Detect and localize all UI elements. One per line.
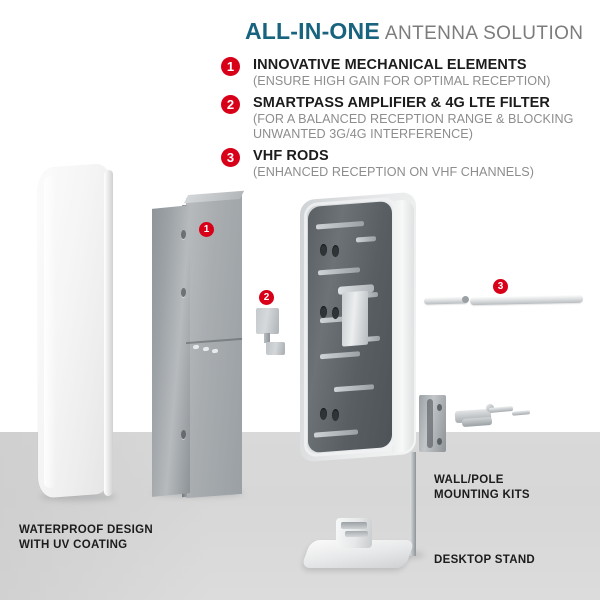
callout-badge-2: 2 — [259, 290, 274, 305]
feature-item-2: 2 SMARTPASS AMPLIFIER & 4G LTE FILTER (F… — [221, 94, 593, 142]
feature-list: 1 INNOVATIVE MECHANICAL ELEMENTS (ENSURE… — [221, 56, 593, 185]
infographic-canvas: ALL-IN-ONEANTENNA SOLUTION 1 INNOVATIVE … — [0, 0, 600, 600]
desktop-stand-slot — [341, 522, 367, 529]
title-sub: ANTENNA SOLUTION — [385, 23, 584, 44]
caption-desktop-stand: DESKTOP STAND — [434, 553, 535, 568]
caption-wall-pole-mounting-kits: WALL/POLE MOUNTING KITS — [434, 473, 530, 502]
wall-mount-hole — [437, 438, 442, 445]
feature-badge-2: 2 — [221, 95, 240, 114]
feature-description-3: (ENHANCED RECEPTION ON VHF CHANNELS) — [253, 165, 593, 180]
feature-title-3: VHF RODS — [253, 147, 593, 165]
antenna-housing-lip — [304, 197, 396, 458]
callout-badge-1: 1 — [199, 222, 214, 237]
vhf-rod-connector — [462, 296, 469, 303]
feature-title-2: SMARTPASS AMPLIFIER & 4G LTE FILTER — [253, 94, 593, 112]
feature-title-1: INNOVATIVE MECHANICAL ELEMENTS — [253, 56, 593, 74]
reflector-front-fin — [152, 205, 190, 497]
vhf-rod-long — [470, 295, 583, 305]
pole-clamp-secondary — [462, 417, 492, 427]
feature-item-3: 3 VHF RODS (ENHANCED RECEPTION ON VHF CH… — [221, 147, 593, 180]
feature-description-2: (FOR A BALANCED RECEPTION RANGE & BLOCKI… — [253, 112, 593, 142]
smartpass-filter-chip — [266, 342, 285, 355]
wall-mount-hole — [437, 404, 442, 411]
title-main: ALL-IN-ONE — [245, 18, 380, 44]
feature-badge-1: 1 — [221, 57, 240, 76]
mounting-mast — [410, 452, 416, 556]
waterproof-cover-edge — [104, 170, 113, 497]
feature-description-1: (ENSURE HIGH GAIN FOR OPTIMAL RECEPTION) — [253, 74, 593, 89]
feature-badge-3: 3 — [221, 148, 240, 167]
page-title: ALL-IN-ONEANTENNA SOLUTION — [245, 18, 583, 45]
waterproof-cover-highlight — [44, 176, 56, 489]
feature-item-1: 1 INNOVATIVE MECHANICAL ELEMENTS (ENSURE… — [221, 56, 593, 89]
caption-waterproof-design: WATERPROOF DESIGN WITH UV COATING — [19, 523, 153, 552]
mount-bolt — [489, 406, 513, 413]
smartpass-amplifier-body — [256, 308, 279, 334]
mount-bolt-secondary — [512, 410, 530, 416]
wall-mount-bracket-slot — [427, 399, 433, 448]
desktop-stand-slot-secondary — [345, 531, 368, 537]
callout-badge-3: 3 — [493, 279, 508, 294]
